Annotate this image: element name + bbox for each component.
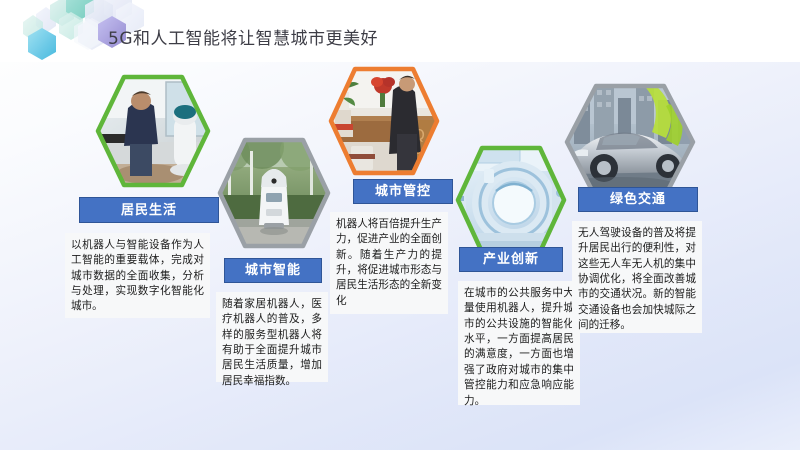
photo-robot-in-kitchen	[92, 70, 214, 192]
card-body-residential-life: 以机器人与智能设备作为人工智能的重要载体，完成对城市数据的全面收集，分析与处理，…	[65, 233, 210, 318]
card-label-city-governance[interactable]: 城市管控	[353, 179, 453, 204]
photo-hotel-lobby-service-robot: Q SO	[325, 62, 443, 180]
card-body-industry-innovation: 在城市的公共服务中大量使用机器人，提升城市的公共设施的智能化水平，一方面提高居民…	[458, 281, 580, 405]
card-label-city-intelligence[interactable]: 城市智能	[224, 258, 322, 283]
card-body-city-intelligence: 随着家居机器人，医疗机器人的普及，多样的服务型机器人将有助于全面提升城市居民生活…	[216, 292, 328, 382]
photo-medical-scanner-equipment	[452, 141, 570, 259]
card-label-industry-innovation[interactable]: 产业创新	[459, 247, 563, 272]
card-label-green-transport[interactable]: 绿色交通	[578, 187, 698, 212]
card-body-city-governance: 机器人将百倍提升生产力，促进产业的全面创新。随着生产力的提升，将促进城市形态与居…	[330, 212, 448, 314]
slide-canvas: 5G和人工智能将让智慧城市更美好	[0, 0, 800, 450]
page-title: 5G和人工智能将让智慧城市更美好	[108, 24, 378, 49]
card-body-green-transport: 无人驾驶设备的普及将提升居民出行的便利性，对这些无人车无人机的集中协调优化，将全…	[572, 221, 702, 333]
photo-autonomous-concept-car	[560, 80, 700, 204]
photo-patrol-robot-on-street	[214, 133, 334, 253]
card-label-residential-life[interactable]: 居民生活	[79, 197, 219, 223]
